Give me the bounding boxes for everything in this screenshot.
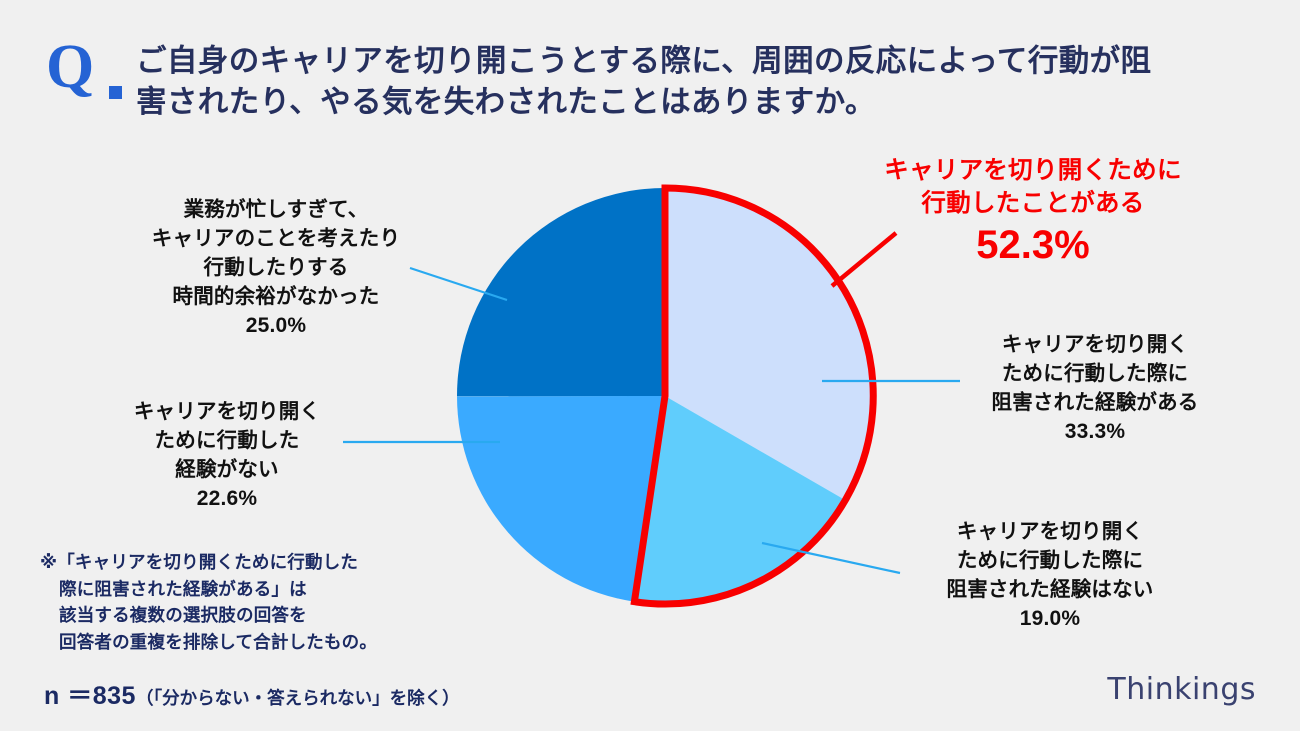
slice-value-too-busy: 25.0% xyxy=(126,311,426,341)
label-line: 阻害された経験はない xyxy=(905,575,1195,604)
label-line: キャリアを切り開く xyxy=(102,397,352,426)
brand-logo: Thinkings xyxy=(1107,672,1256,707)
sample-size: n ＝835（「分からない・答えられない」を除く） xyxy=(44,676,460,712)
pie-slice-too-busy xyxy=(457,188,665,396)
footnote-line-2: 際に阻害された経験がある」は xyxy=(40,576,480,603)
footnote: ※「キャリアを切り開くために行動した 際に阻害された経験がある」は 該当する複数… xyxy=(40,549,480,655)
slice-label-no-action-experience: キャリアを切り開く ために行動した 経験がない 22.6% xyxy=(102,397,352,514)
label-line: キャリアのことを考えたり xyxy=(126,224,426,253)
slice-value-blocked-experience: 33.3% xyxy=(950,417,1240,447)
footnote-line-4: 回答者の重複を排除して合計したもの。 xyxy=(40,629,480,656)
sample-size-note: （「分からない・答えられない」を除く） xyxy=(136,688,460,708)
pie-slice-no-action-experience xyxy=(457,396,665,602)
label-line: 行動したりする xyxy=(126,253,426,282)
label-line: ために行動した xyxy=(102,426,352,455)
slide-root: Q ご自身のキャリアを切り開こうとする際に、周囲の反応によって行動が阻 害された… xyxy=(0,0,1300,731)
label-line: 時間的余裕がなかった xyxy=(126,282,426,311)
label-line: 経験がない xyxy=(102,455,352,484)
sample-size-value: n ＝835 xyxy=(44,682,136,710)
highlight-line-1: キャリアを切り開くために xyxy=(828,155,1238,188)
slice-label-too-busy: 業務が忙しすぎて、 キャリアのことを考えたり 行動したりする 時間的余裕がなかっ… xyxy=(126,195,426,341)
label-line: 阻害された経験がある xyxy=(950,388,1240,417)
highlight-annotation: キャリアを切り開くために 行動したことがある 52.3% xyxy=(828,155,1238,269)
slice-value-not-blocked-experience: 19.0% xyxy=(905,604,1195,634)
slice-label-not-blocked-experience: キャリアを切り開く ために行動した際に 阻害された経験はない 19.0% xyxy=(905,517,1195,634)
label-line: キャリアを切り開く xyxy=(950,330,1240,359)
label-line: 業務が忙しすぎて、 xyxy=(126,195,426,224)
highlight-line-2: 行動したことがある xyxy=(828,188,1238,221)
slice-value-no-action-experience: 22.6% xyxy=(102,484,352,514)
label-line: キャリアを切り開く xyxy=(905,517,1195,546)
label-line: ために行動した際に xyxy=(950,359,1240,388)
footnote-line-1: ※「キャリアを切り開くために行動した xyxy=(40,549,480,576)
slice-label-blocked-experience: キャリアを切り開く ために行動した際に 阻害された経験がある 33.3% xyxy=(950,330,1240,447)
label-line: ために行動した際に xyxy=(905,546,1195,575)
highlight-value: 52.3% xyxy=(828,221,1238,269)
footnote-line-3: 該当する複数の選択肢の回答を xyxy=(40,602,480,629)
